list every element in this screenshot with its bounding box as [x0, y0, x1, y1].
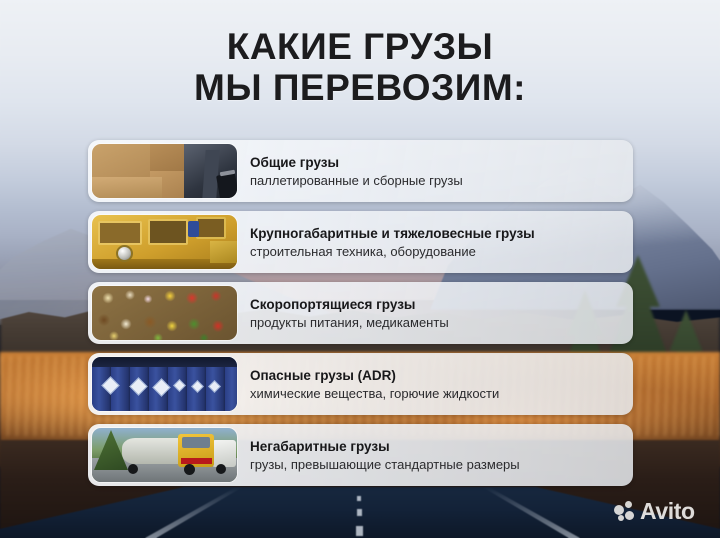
- avito-wordmark: Avito: [640, 500, 695, 523]
- cargo-type-list: Общие грузы паллетированные и сборные гр…: [88, 140, 633, 495]
- list-item-title: Негабаритные грузы: [250, 438, 520, 455]
- list-item-text: Скоропортящиеся грузы продукты питания, …: [250, 296, 449, 331]
- chemical-barrels-icon: [92, 357, 237, 411]
- list-item[interactable]: Скоропортящиеся грузы продукты питания, …: [88, 282, 633, 344]
- list-item-subtitle: строительная техника, оборудование: [250, 243, 535, 260]
- list-item-text: Общие грузы паллетированные и сборные гр…: [250, 154, 463, 189]
- list-item-text: Опасные грузы (ADR) химические вещества,…: [250, 367, 499, 402]
- list-item-subtitle: химические вещества, горючие жидкости: [250, 385, 499, 402]
- oversized-truck-icon: [92, 428, 237, 482]
- page-title: КАКИЕ ГРУЗЫ МЫ ПЕРЕВОЗИМ:: [0, 26, 720, 108]
- heavy-machinery-icon: [92, 215, 237, 269]
- list-item-subtitle: паллетированные и сборные грузы: [250, 172, 463, 189]
- list-item-subtitle: продукты питания, медикаменты: [250, 314, 449, 331]
- page-title-line-2: МЫ ПЕРЕВОЗИМ:: [0, 67, 720, 108]
- road-center-dash: [357, 509, 362, 516]
- avito-watermark: Avito: [614, 500, 695, 523]
- list-item[interactable]: Негабаритные грузы грузы, превышающие ст…: [88, 424, 633, 486]
- list-item-text: Негабаритные грузы грузы, превышающие ст…: [250, 438, 520, 473]
- fresh-food-icon: [92, 286, 237, 340]
- list-item-subtitle: грузы, превышающие стандартные размеры: [250, 456, 520, 473]
- list-item[interactable]: Опасные грузы (ADR) химические вещества,…: [88, 353, 633, 415]
- avito-logo-icon: [614, 501, 636, 523]
- road-center-dash: [356, 526, 363, 536]
- list-item-title: Опасные грузы (ADR): [250, 367, 499, 384]
- list-item-title: Общие грузы: [250, 154, 463, 171]
- list-item-title: Скоропортящиеся грузы: [250, 296, 449, 313]
- list-item[interactable]: Крупногабаритные и тяжеловесные грузы ст…: [88, 211, 633, 273]
- list-item-text: Крупногабаритные и тяжеловесные грузы ст…: [250, 225, 535, 260]
- list-item-title: Крупногабаритные и тяжеловесные грузы: [250, 225, 535, 242]
- list-item[interactable]: Общие грузы паллетированные и сборные гр…: [88, 140, 633, 202]
- road-center-dash: [357, 496, 361, 501]
- page-title-line-1: КАКИЕ ГРУЗЫ: [227, 26, 494, 67]
- cardboard-boxes-icon: [92, 144, 237, 198]
